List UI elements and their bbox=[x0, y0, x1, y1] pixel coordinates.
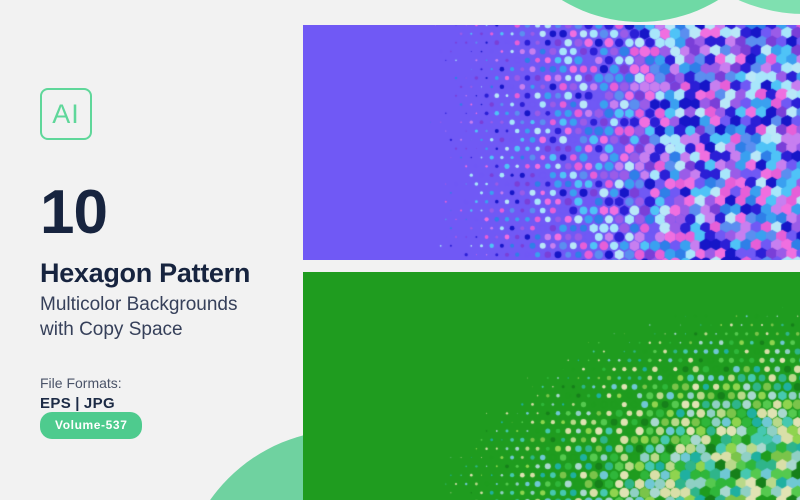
green-pattern-canvas bbox=[303, 272, 800, 500]
format-jpg: JPG bbox=[84, 395, 115, 412]
info-column: AI 10 Hexagon Pattern Multicolor Backgro… bbox=[40, 88, 300, 412]
format-eps: EPS bbox=[40, 395, 71, 412]
volume-badge: Volume-537 bbox=[40, 412, 142, 439]
purple-hexagon-preview bbox=[303, 25, 800, 260]
page-title: Hexagon Pattern bbox=[40, 258, 300, 288]
file-formats-label: File Formats: bbox=[40, 375, 300, 391]
format-separator: | bbox=[71, 395, 84, 412]
file-formats-value: EPS|JPG bbox=[40, 395, 300, 412]
ai-format-icon: AI bbox=[40, 88, 92, 140]
ai-badge-label: AI bbox=[52, 99, 80, 130]
subtitle-line-2: with Copy Space bbox=[40, 318, 300, 342]
decor-blob-top-right-a bbox=[490, 0, 790, 22]
purple-pattern-canvas bbox=[303, 25, 800, 260]
subtitle-line-1: Multicolor Backgrounds bbox=[40, 293, 300, 317]
item-count: 10 bbox=[40, 182, 300, 244]
poster-canvas: AI 10 Hexagon Pattern Multicolor Backgro… bbox=[0, 0, 800, 500]
green-hexagon-preview bbox=[303, 272, 800, 500]
page-subtitle: Multicolor Backgrounds with Copy Space bbox=[40, 293, 300, 342]
